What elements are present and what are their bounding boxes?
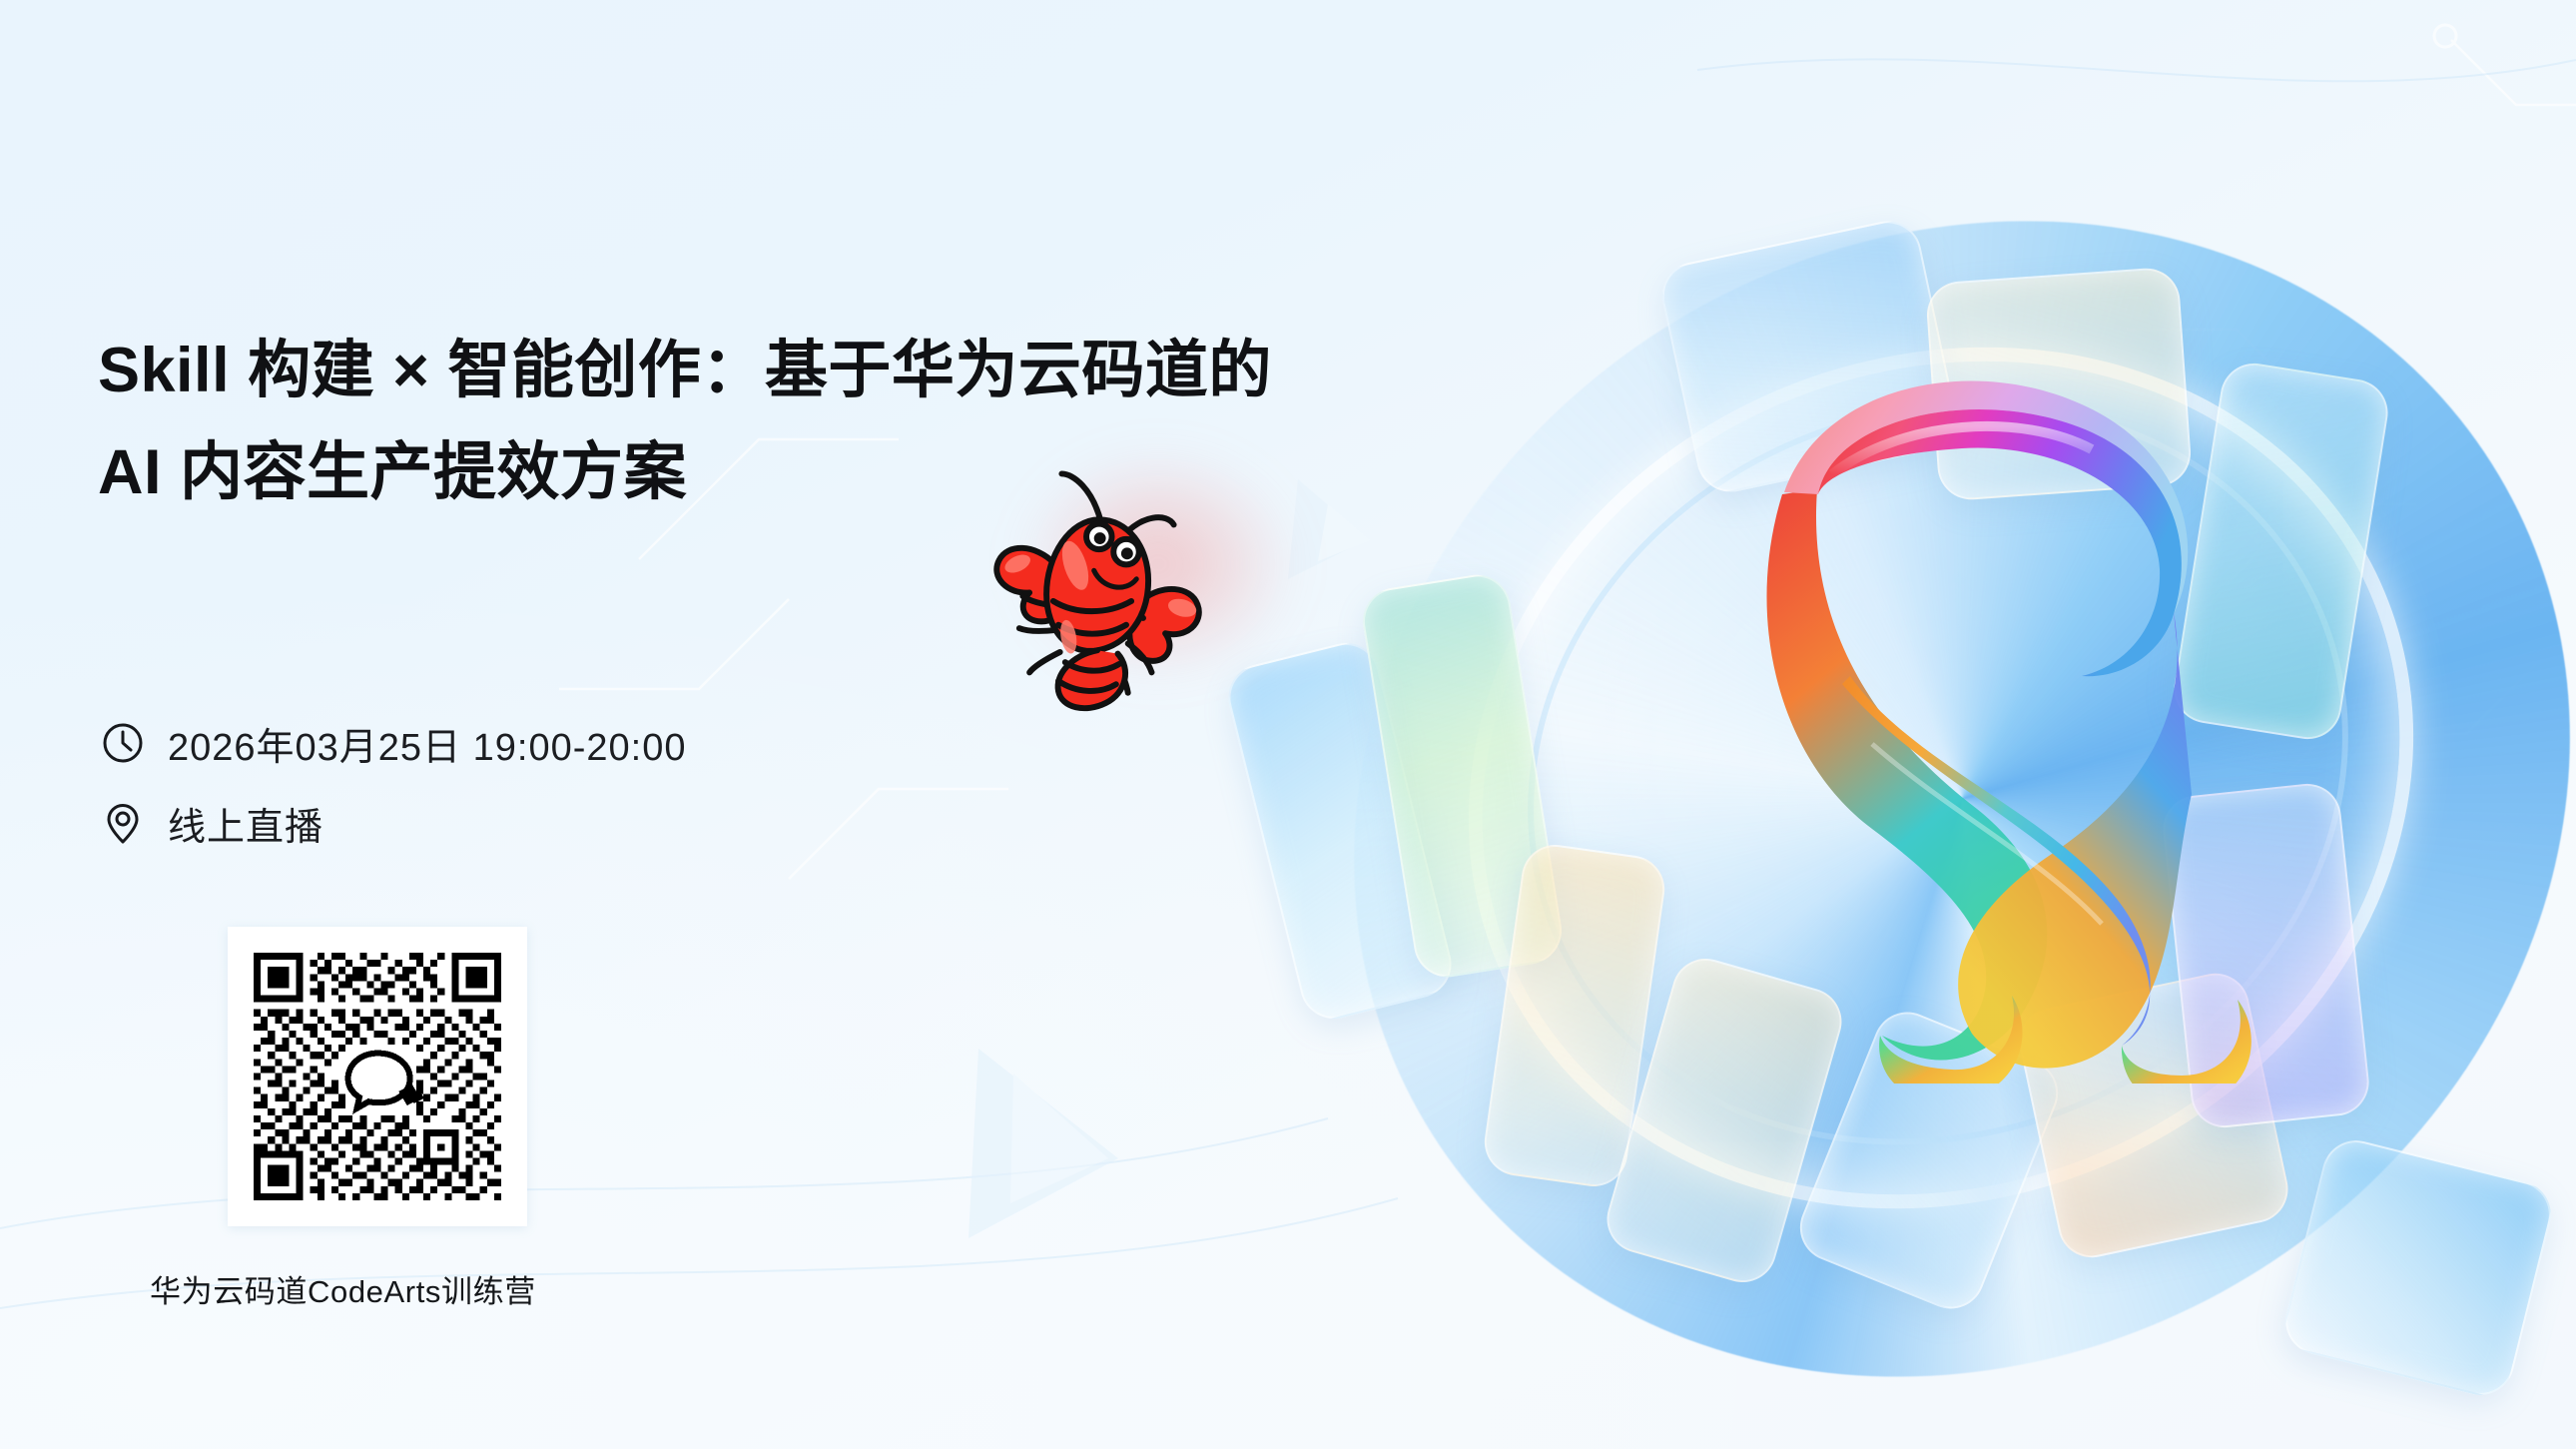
clock-icon	[100, 720, 146, 766]
ribbon-infinity-graphic	[1722, 325, 2281, 1084]
qr-code-block[interactable]	[228, 927, 527, 1226]
title-line-2: AI 内容生产提效方案	[98, 421, 1246, 523]
location-pin-icon	[100, 800, 146, 846]
qr-code-frame[interactable]	[228, 927, 527, 1226]
content-column: Skill 构建 × 智能创作：基于华为云码道的 AI 内容生产提效方案 202…	[0, 0, 1298, 1449]
qr-code-image[interactable]	[247, 946, 508, 1207]
qr-code-caption: 华为云码道CodeArts训练营	[150, 1266, 609, 1311]
event-datetime-row: 2026年03月25日 19:00-20:00	[100, 711, 686, 775]
hero-artwork	[1293, 150, 2576, 1378]
page-title: Skill 构建 × 智能创作：基于华为云码道的 AI 内容生产提效方案	[98, 320, 1246, 523]
event-meta: 2026年03月25日 19:00-20:00 线上直播	[100, 711, 686, 871]
event-location-row: 线上直播	[100, 791, 686, 855]
event-datetime-text: 2026年03月25日 19:00-20:00	[168, 716, 686, 771]
title-line-1: Skill 构建 × 智能创作：基于华为云码道的	[98, 320, 1246, 421]
poster-canvas: Skill 构建 × 智能创作：基于华为云码道的 AI 内容生产提效方案 202…	[0, 0, 2576, 1449]
speech-bubble-megaphone-icon	[345, 1045, 424, 1115]
event-location-text: 线上直播	[168, 796, 323, 851]
glass-blade-11	[2278, 1133, 2558, 1402]
